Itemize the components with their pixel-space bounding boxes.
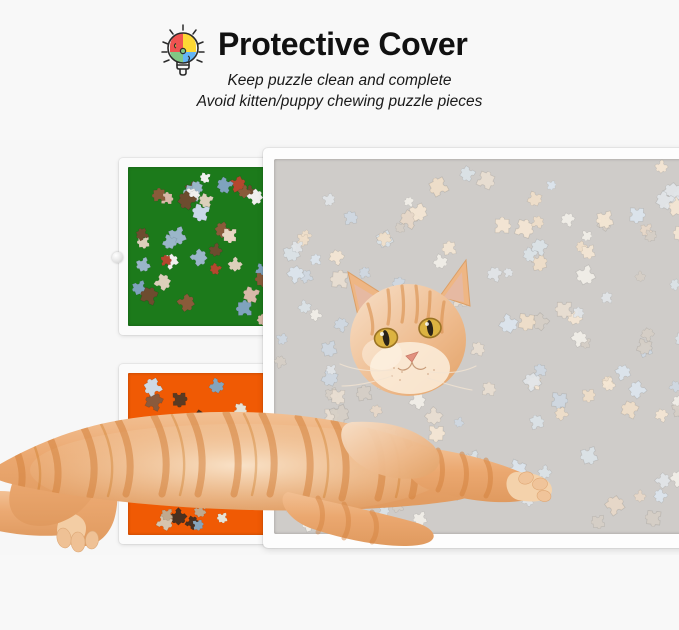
puzzle-piece xyxy=(580,243,597,260)
puzzle-piece xyxy=(280,495,300,515)
puzzle-piece xyxy=(151,187,167,203)
puzzle-piece xyxy=(377,356,393,372)
puzzle-piece xyxy=(580,388,595,403)
puzzle-piece xyxy=(358,266,372,280)
puzzle-piece xyxy=(206,375,227,396)
sorting-tray-orange-surface xyxy=(128,373,271,535)
puzzle-piece xyxy=(173,291,197,315)
puzzle-piece xyxy=(580,230,593,243)
puzzle-piece xyxy=(401,381,414,394)
tray-knob-top xyxy=(112,252,123,263)
puzzle-piece xyxy=(452,415,466,429)
puzzle-piece xyxy=(329,269,350,290)
puzzle-piece xyxy=(279,446,300,467)
puzzle-piece xyxy=(191,518,204,531)
puzzle-piece xyxy=(325,363,337,375)
puzzle-piece xyxy=(527,413,546,432)
puzzle-piece xyxy=(670,401,679,420)
puzzle-piece xyxy=(340,519,356,534)
puzzle-piece xyxy=(505,456,529,480)
puzzle-piece xyxy=(355,349,373,367)
puzzle-piece xyxy=(342,210,359,227)
puzzle-piece xyxy=(212,448,231,467)
puzzle-piece xyxy=(628,206,646,224)
puzzle-piece xyxy=(170,391,187,408)
puzzle-piece xyxy=(492,217,510,235)
sorting-tray-orange xyxy=(119,364,280,544)
puzzle-piece xyxy=(466,471,483,488)
puzzle-piece xyxy=(320,191,337,208)
puzzle-piece xyxy=(216,511,229,524)
puzzle-piece xyxy=(447,485,464,502)
puzzle-piece xyxy=(601,292,614,305)
puzzle-piece xyxy=(274,354,289,371)
puzzle-piece xyxy=(468,340,486,358)
puzzle-piece xyxy=(208,261,224,277)
puzzle-piece xyxy=(382,425,399,442)
puzzle-piece xyxy=(299,511,322,534)
puzzle-piece xyxy=(160,507,174,521)
puzzle-piece xyxy=(320,338,340,358)
puzzle-piece xyxy=(519,493,535,509)
puzzle-piece xyxy=(367,487,385,505)
puzzle-piece xyxy=(632,488,649,505)
puzzle-piece xyxy=(391,499,406,514)
puzzle-piece xyxy=(426,424,445,443)
puzzle-piece xyxy=(578,444,601,467)
product-photo xyxy=(0,140,679,555)
puzzle-piece xyxy=(397,357,414,374)
puzzle-piece xyxy=(367,403,384,420)
puzzle-piece xyxy=(225,254,245,274)
puzzle-piece xyxy=(555,300,574,319)
puzzle-piece xyxy=(535,462,554,481)
puzzle-piece xyxy=(222,226,239,243)
sorting-tray-green xyxy=(119,158,280,335)
puzzle-piece xyxy=(480,382,496,398)
puzzle-piece xyxy=(219,420,241,442)
puzzle-piece xyxy=(672,224,679,243)
main-puzzle-board-surface xyxy=(274,159,679,534)
puzzle-piece xyxy=(331,315,351,335)
puzzle-piece xyxy=(231,401,248,418)
puzzle-piece xyxy=(573,262,600,289)
puzzle-piece xyxy=(652,159,670,175)
puzzle-piece xyxy=(667,379,679,395)
product-infographic: Protective Cover Keep puzzle clean and c… xyxy=(0,0,679,630)
puzzle-piece xyxy=(385,338,401,354)
puzzle-piece xyxy=(160,254,173,267)
puzzle-piece xyxy=(378,504,391,517)
puzzle-piece xyxy=(441,240,458,257)
puzzle-piece xyxy=(275,331,289,345)
page-title: Protective Cover xyxy=(218,26,468,63)
puzzle-piece xyxy=(444,341,464,361)
puzzle-piece xyxy=(192,443,208,459)
puzzle-piece xyxy=(309,254,322,267)
puzzle-piece xyxy=(199,171,212,184)
puzzle-piece xyxy=(674,331,679,348)
puzzle-piece xyxy=(426,173,453,200)
puzzle-piece xyxy=(524,189,544,209)
puzzle-piece xyxy=(355,383,375,403)
puzzle-piece xyxy=(484,265,504,285)
puzzle-piece xyxy=(558,210,577,229)
puzzle-piece xyxy=(133,254,153,274)
puzzle-piece xyxy=(414,465,437,488)
puzzle-piece xyxy=(666,467,679,490)
subtitle-line-2: Avoid kitten/puppy chewing puzzle pieces xyxy=(0,93,679,111)
puzzle-piece xyxy=(572,307,585,320)
sorting-tray-green-surface xyxy=(128,167,271,326)
puzzle-piece xyxy=(545,180,556,191)
puzzle-piece xyxy=(451,290,470,309)
puzzle-piece xyxy=(590,513,607,530)
puzzle-piece xyxy=(652,406,670,424)
puzzle-piece xyxy=(326,247,347,268)
puzzle-piece xyxy=(643,228,658,243)
puzzle-lightbulb-icon xyxy=(155,22,211,78)
puzzle-piece xyxy=(595,208,617,230)
puzzle-piece xyxy=(618,398,642,422)
puzzle-piece xyxy=(633,269,648,284)
footer-whitespace xyxy=(0,555,679,630)
subtitle-line-1: Keep puzzle clean and complete xyxy=(0,72,679,90)
puzzle-piece xyxy=(376,378,392,394)
puzzle-piece xyxy=(428,449,441,462)
puzzle-piece xyxy=(612,362,633,383)
puzzle-piece xyxy=(644,509,663,528)
puzzle-piece xyxy=(411,509,429,527)
puzzle-piece xyxy=(406,390,429,413)
puzzle-piece xyxy=(330,388,347,405)
puzzle-piece xyxy=(291,240,305,254)
main-puzzle-board xyxy=(263,148,679,548)
puzzle-piece xyxy=(391,276,407,292)
header-block: Protective Cover Keep puzzle clean and c… xyxy=(0,0,679,140)
puzzle-piece xyxy=(461,446,485,470)
puzzle-piece xyxy=(667,277,679,293)
tray-knob-bottom xyxy=(112,438,123,449)
